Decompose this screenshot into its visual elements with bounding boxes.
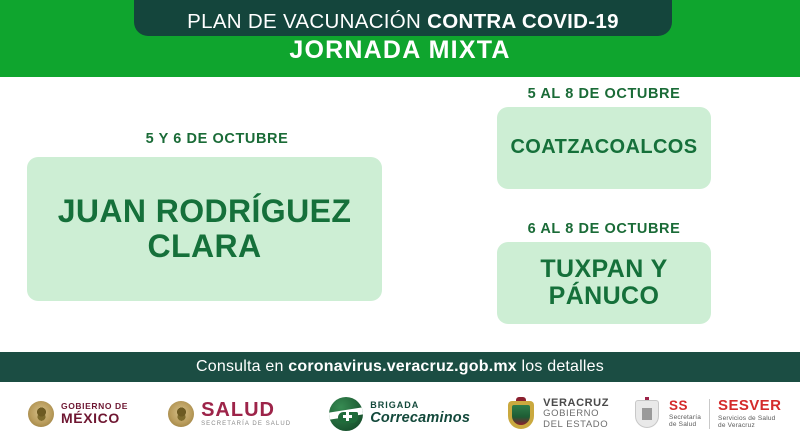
logo-salud: SALUD SECRETARÍA DE SALUD: [168, 400, 291, 428]
logo-ss-text: SS Secretaría de Salud: [669, 399, 701, 428]
right-column: 5 AL 8 DE OCTUBRE COATZACOALCOS 6 AL 8 D…: [497, 77, 757, 352]
card-tuxpan-y-panuco-label: TUXPAN Y PÁNUCO: [497, 256, 711, 310]
logo-salud-text: SALUD SECRETARÍA DE SALUD: [201, 400, 291, 428]
logo-gobierno-de-mexico-text: GOBIERNO DE MÉXICO: [61, 402, 128, 425]
logo-sesver-text: SESVER Servicios de Salud de Veracruz: [718, 398, 781, 428]
logo-sesver-title: SESVER: [718, 398, 781, 414]
right-date-label-1: 5 AL 8 DE OCTUBRE: [497, 87, 711, 102]
header-title-bold: CONTRA COVID-19: [427, 10, 619, 33]
logo-ss-sesver: SS Secretaría de Salud SESVER Servicios …: [633, 397, 781, 431]
url-band: Consulta en coronavirus.veracruz.gob.mx …: [0, 352, 800, 382]
card-coatzacoalcos: COATZACOALCOS: [497, 107, 711, 189]
url-suffix: los detalles: [517, 358, 604, 375]
bird-cross-horizontal: [343, 415, 352, 418]
card-juan-rodriguez-clara: JUAN RODRÍGUEZ CLARA: [27, 157, 382, 301]
card-juan-rodriguez-clara-label: JUAN RODRÍGUEZ CLARA: [27, 194, 382, 263]
logo-salud-line2: SECRETARÍA DE SALUD: [201, 421, 291, 427]
header-title-pill: PLAN DE VACUNACIÓN CONTRA COVID-19: [134, 0, 672, 36]
logo-ss-title: SS: [669, 399, 701, 414]
veracruz-health-shield-icon: [633, 397, 661, 431]
logo-sesver-sub-line2: de Veracruz: [718, 422, 781, 429]
logo-ss-sub-line1: Secretaría: [669, 414, 701, 421]
left-date-label: 5 Y 6 DE OCTUBRE: [27, 132, 407, 147]
card-coatzacoalcos-label: COATZACOALCOS: [510, 137, 697, 159]
mexican-eagle-seal-icon: [168, 401, 194, 427]
logo-gobierno-de-mexico: GOBIERNO DE MÉXICO: [28, 401, 128, 427]
url-prefix: Consulta en: [196, 358, 288, 375]
logo-veracruz-text: VERACRUZ GOBIERNO DEL ESTADO: [543, 397, 609, 431]
logo-brigada-text: BRIGADA Correcaminos: [370, 401, 470, 426]
header-band: PLAN DE VACUNACIÓN CONTRA COVID-19 JORNA…: [0, 0, 800, 77]
shield-tower-shape: [642, 408, 652, 420]
logo-brigada-line2: Correcaminos: [370, 411, 470, 426]
url-text: Consulta en coronavirus.veracruz.gob.mx …: [196, 359, 604, 375]
logo-ss-sub-line2: de Salud: [669, 421, 701, 428]
vaccination-plan-poster: PLAN DE VACUNACIÓN CONTRA COVID-19 JORNA…: [0, 0, 800, 445]
logo-veracruz-line3: DEL ESTADO: [543, 420, 609, 431]
header-subtitle: JORNADA MIXTA: [0, 38, 800, 63]
logo-veracruz-gobierno-del-estado: VERACRUZ GOBIERNO DEL ESTADO: [506, 397, 609, 431]
mexican-eagle-seal-icon: [28, 401, 54, 427]
logo-salud-line1: SALUD: [201, 400, 291, 420]
logo-brigada-correcaminos: BRIGADA Correcaminos: [329, 397, 470, 431]
card-tuxpan-y-panuco: TUXPAN Y PÁNUCO: [497, 242, 711, 324]
left-column: 5 Y 6 DE OCTUBRE JUAN RODRÍGUEZ CLARA: [27, 77, 407, 352]
veracruz-coat-of-arms-icon: [506, 397, 536, 431]
main-content: 5 Y 6 DE OCTUBRE JUAN RODRÍGUEZ CLARA 5 …: [0, 77, 800, 352]
header-title: PLAN DE VACUNACIÓN CONTRA COVID-19: [187, 12, 619, 33]
header-title-plain: PLAN DE VACUNACIÓN: [187, 10, 427, 33]
right-date-label-2: 6 AL 8 DE OCTUBRE: [497, 222, 711, 237]
logo-divider: [709, 399, 710, 429]
roadrunner-bird-icon: [329, 397, 363, 431]
url-link[interactable]: coronavirus.veracruz.gob.mx: [288, 358, 517, 375]
logo-strip: GOBIERNO DE MÉXICO SALUD SECRETARÍA DE S…: [0, 382, 800, 445]
shield-inner-shape: [512, 405, 530, 425]
logo-gobierno-line2: MÉXICO: [61, 411, 128, 425]
logo-sesver-sub-line1: Servicios de Salud: [718, 415, 781, 422]
